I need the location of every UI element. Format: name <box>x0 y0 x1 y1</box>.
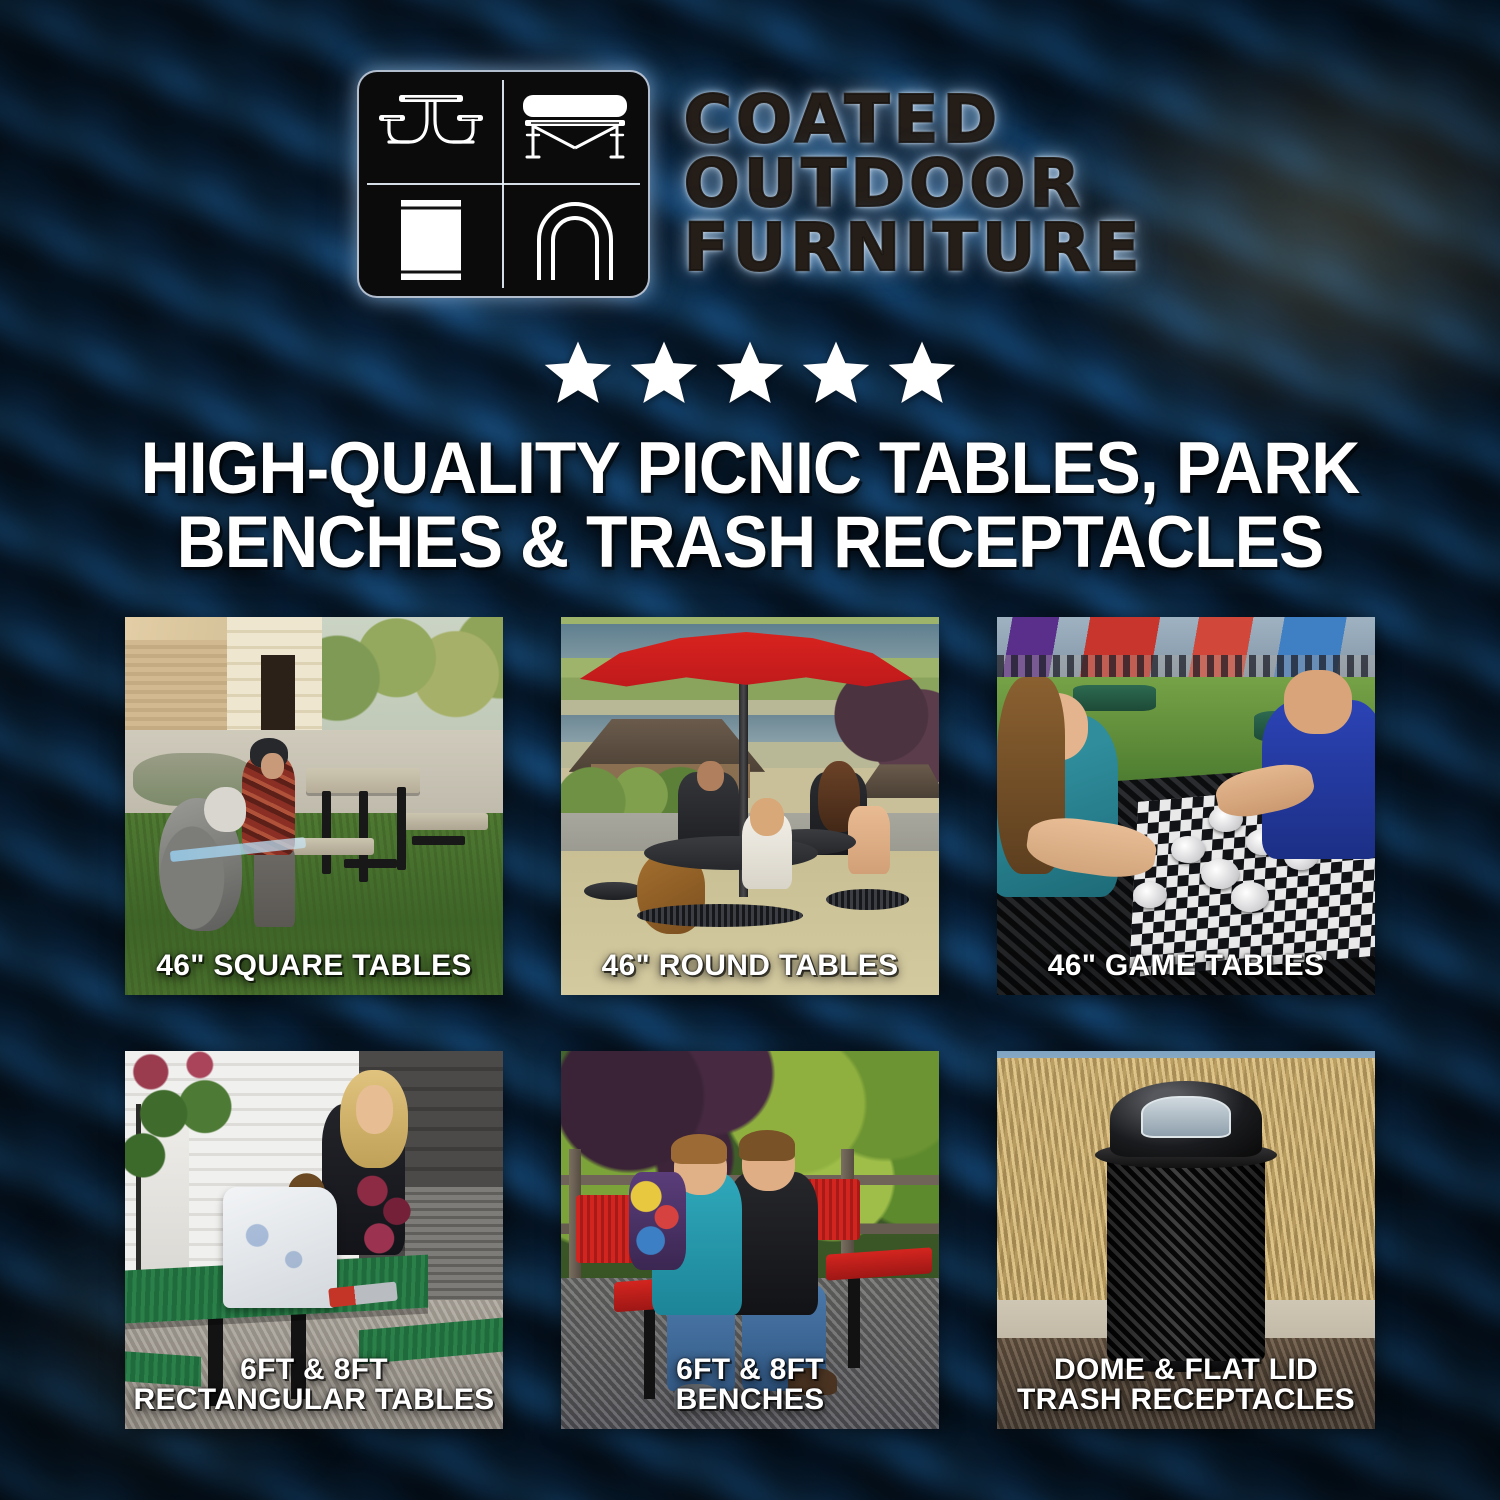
star-icon <box>542 338 614 408</box>
caption-line-1: 6FT & 8FT <box>676 1353 824 1386</box>
product-photo-game-tables <box>997 617 1375 995</box>
star-icon <box>714 338 786 408</box>
product-tile-caption: 6FT & 8FT BENCHES <box>561 1355 939 1415</box>
product-photo-square-tables <box>125 617 503 995</box>
product-tile-square-tables[interactable]: 46" SQUARE TABLES <box>125 617 503 995</box>
caption-line-2: TRASH RECEPTACLES <box>1003 1385 1369 1415</box>
bench-icon <box>503 72 648 184</box>
product-category-grid: 46" SQUARE TABLES <box>0 617 1500 1429</box>
star-rating <box>0 338 1500 408</box>
product-photo-round-tables <box>561 617 939 995</box>
page-title: HIGH-QUALITY PICNIC TABLES, PARK BENCHES… <box>53 432 1448 581</box>
promo-banner: COATED OUTDOOR FURNITURE HIGH-QUALITY PI… <box>0 0 1500 1500</box>
product-tile-trash-receptacles[interactable]: DOME & FLAT LID TRASH RECEPTACLES <box>997 1051 1375 1429</box>
star-icon <box>800 338 872 408</box>
product-tile-benches[interactable]: 6FT & 8FT BENCHES <box>561 1051 939 1429</box>
caption-line-1: 46" GAME TABLES <box>1048 949 1325 982</box>
product-tile-caption: DOME & FLAT LID TRASH RECEPTACLES <box>997 1355 1375 1415</box>
product-tile-caption: 46" GAME TABLES <box>997 951 1375 981</box>
headline-line-1: HIGH-QUALITY PICNIC TABLES, PARK <box>53 432 1448 506</box>
caption-line-1: 46" ROUND TABLES <box>602 949 899 982</box>
caption-line-2: BENCHES <box>567 1385 933 1415</box>
brand-line-2: OUTDOOR <box>684 153 1144 215</box>
product-tile-caption: 46" SQUARE TABLES <box>125 951 503 981</box>
brand-line-1: COATED <box>684 89 1144 151</box>
product-tile-game-tables[interactable]: 46" GAME TABLES <box>997 617 1375 995</box>
caption-line-1: 46" SQUARE TABLES <box>156 949 472 982</box>
brand-header: COATED OUTDOOR FURNITURE <box>0 0 1500 298</box>
bike-rack-arch-icon <box>503 184 648 296</box>
product-tile-caption: 6FT & 8FT RECTANGULAR TABLES <box>125 1355 503 1415</box>
product-tile-round-tables[interactable]: 46" ROUND TABLES <box>561 617 939 995</box>
caption-line-1: 6FT & 8FT <box>240 1353 388 1386</box>
caption-line-2: RECTANGULAR TABLES <box>131 1385 497 1415</box>
headline-line-2: BENCHES & TRASH RECEPTACLES <box>53 506 1448 580</box>
brand-line-3: FURNITURE <box>684 217 1144 279</box>
star-icon <box>628 338 700 408</box>
product-tile-rectangular-tables[interactable]: 6FT & 8FT RECTANGULAR TABLES <box>125 1051 503 1429</box>
brand-name: COATED OUTDOOR FURNITURE <box>684 89 1144 279</box>
star-icon <box>886 338 958 408</box>
caption-line-1: DOME & FLAT LID <box>1054 1353 1318 1386</box>
brand-logo-badge <box>357 70 650 298</box>
product-tile-caption: 46" ROUND TABLES <box>561 951 939 981</box>
picnic-table-icon <box>359 72 504 184</box>
trash-receptacle-icon <box>359 184 504 296</box>
